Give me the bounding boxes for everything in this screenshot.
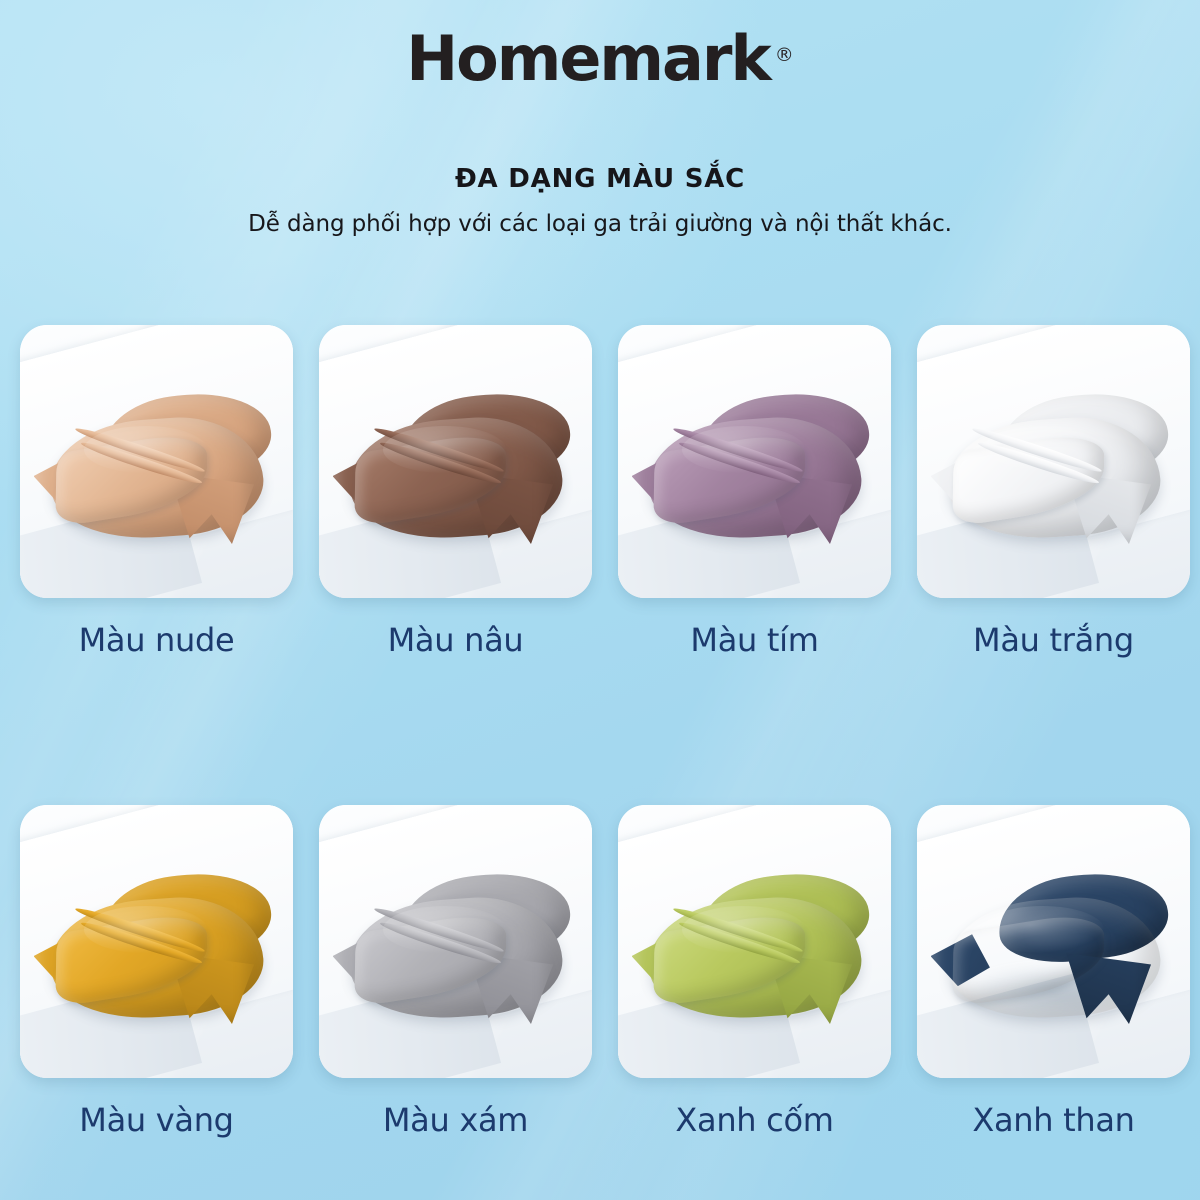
swatch-cell[interactable]: Màu trắng [917,325,1190,659]
swatch-cell[interactable]: Xanh than [917,805,1190,1139]
swatch-cell[interactable]: Màu vàng [20,805,293,1139]
pillow-highlight [682,906,805,953]
pillow-card-nude[interactable] [20,325,293,598]
pillow-card-brown[interactable] [319,325,592,598]
product-photo [20,805,293,1078]
promo-page: Homemark® ĐA DẠNG MÀU SẮC Dễ dàng phối h… [0,0,1200,1200]
pillow-purple [649,419,861,537]
swatch-label: Màu xám [319,1101,592,1139]
pillow-highlight [383,426,506,473]
pillow-nude [51,419,263,537]
swatch-label: Màu nâu [319,621,592,659]
product-photo [917,325,1190,598]
pillow-highlight [383,906,506,953]
swatch-label: Xanh than [917,1101,1190,1139]
product-photo [618,325,891,598]
pillow-highlight [682,426,805,473]
swatch-row-top: Màu nude [20,325,1190,659]
pillow-white [948,419,1160,537]
swatch-label: Màu nude [20,621,293,659]
swatch-label: Màu vàng [20,1101,293,1139]
pillow-navy [948,899,1160,1017]
swatch-cell[interactable]: Màu tím [618,325,891,659]
pillow-card-yellow[interactable] [20,805,293,1078]
pillow-highlight [84,906,207,953]
swatch-cell[interactable]: Màu nâu [319,325,592,659]
brand-logo: Homemark® [0,28,1200,90]
product-photo [917,805,1190,1078]
pillow-card-white[interactable] [917,325,1190,598]
product-photo [20,325,293,598]
pillow-card-gray[interactable] [319,805,592,1078]
pillow-card-lime-green[interactable] [618,805,891,1078]
swatch-label: Màu tím [618,621,891,659]
pillow-highlight [981,426,1104,473]
pillow-brown [350,419,562,537]
swatch-row-bottom: Màu vàng [20,805,1190,1139]
product-photo [319,325,592,598]
pillow-card-navy[interactable] [917,805,1190,1078]
color-swatch-grid: Màu nude [20,325,1190,1139]
pillow-gray [350,899,562,1017]
registered-trademark-icon: ® [775,44,794,66]
pillow-highlight [981,906,1104,953]
page-title: ĐA DẠNG MÀU SẮC [0,164,1200,194]
pillow-yellow [51,899,263,1017]
brand-name: Homemark [406,28,769,90]
swatch-label: Màu trắng [917,621,1190,659]
page-subtitle: Dễ dàng phối hợp với các loại ga trải gi… [0,211,1200,237]
swatch-cell[interactable]: Màu xám [319,805,592,1139]
pillow-card-purple[interactable] [618,325,891,598]
swatch-cell[interactable]: Xanh cốm [618,805,891,1139]
swatch-label: Xanh cốm [618,1101,891,1139]
pillow-lime-green [649,899,861,1017]
product-photo [319,805,592,1078]
pillow-highlight [84,426,207,473]
product-photo [618,805,891,1078]
swatch-cell[interactable]: Màu nude [20,325,293,659]
